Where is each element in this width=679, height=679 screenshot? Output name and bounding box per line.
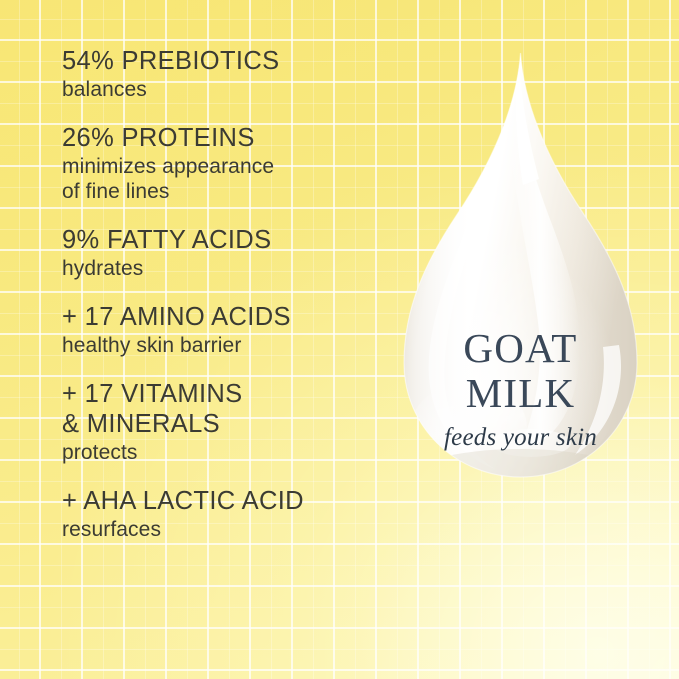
benefit-description: balances <box>62 77 392 102</box>
list-item: 54% PREBIOTICS balances <box>62 46 392 102</box>
benefit-title: 9% FATTY ACIDS <box>62 225 392 255</box>
list-item: 26% PROTEINS minimizes appearance of fin… <box>62 123 392 204</box>
list-item: 9% FATTY ACIDS hydrates <box>62 225 392 281</box>
benefit-title: 54% PREBIOTICS <box>62 46 392 76</box>
benefit-title: + 17 AMINO ACIDS <box>62 302 392 332</box>
milk-droplet: GOAT MILK feeds your skin <box>383 45 658 560</box>
goat-milk-benefits-poster: 54% PREBIOTICS balances 26% PROTEINS min… <box>0 0 679 679</box>
list-item: + 17 VITAMINS & MINERALS protects <box>62 379 392 465</box>
milk-droplet-icon <box>383 45 658 560</box>
benefits-list: 54% PREBIOTICS balances 26% PROTEINS min… <box>62 46 392 542</box>
list-item: + 17 AMINO ACIDS healthy skin barrier <box>62 302 392 358</box>
benefit-description: protects <box>62 440 392 465</box>
benefit-title: 26% PROTEINS <box>62 123 392 153</box>
benefit-description: minimizes appearance of fine lines <box>62 154 392 204</box>
benefit-description: hydrates <box>62 256 392 281</box>
benefit-title: + AHA LACTIC ACID <box>62 486 392 516</box>
benefit-description: healthy skin barrier <box>62 333 392 358</box>
list-item: + AHA LACTIC ACID resurfaces <box>62 486 392 542</box>
benefit-title: + 17 VITAMINS & MINERALS <box>62 379 392 439</box>
benefit-description: resurfaces <box>62 517 392 542</box>
